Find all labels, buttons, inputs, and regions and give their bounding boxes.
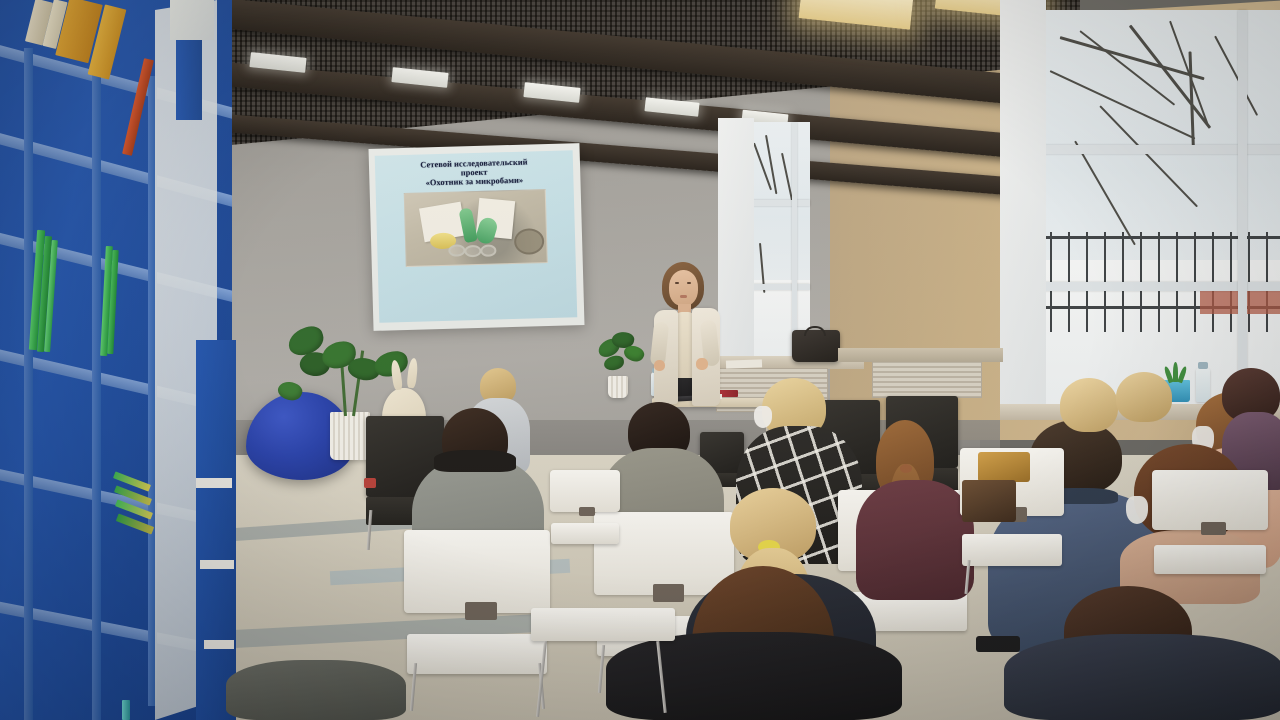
white-chair-seat [962, 534, 1062, 567]
tree-branch [1074, 141, 1136, 246]
window-mullion-h2 [752, 284, 810, 290]
white-chair-leg [536, 641, 547, 717]
window-mullion-h1 [752, 200, 810, 206]
book-teal-bottom [122, 700, 130, 720]
attendee-bottom-left [226, 648, 406, 720]
face-mask [754, 406, 772, 428]
smartphone[interactable] [976, 636, 1020, 652]
slide-photo-green-bottle-1 [458, 207, 478, 243]
white-chair-seat [531, 608, 675, 640]
slide-photo-petri-dish [464, 245, 481, 257]
slide-photo [404, 189, 548, 267]
presenter-eye-left [675, 282, 679, 284]
attendee-blonde-right-2 [1110, 372, 1182, 444]
presenter-mouth [680, 295, 687, 298]
shelf-divider [24, 48, 33, 720]
slide-photo-petri-dish [480, 244, 496, 256]
face-mask [1126, 496, 1148, 524]
presenter-hand-right [696, 358, 708, 370]
monstera-pot [330, 412, 370, 460]
shelf-divider [92, 62, 101, 720]
brown-bag [962, 480, 1016, 522]
presenter-eye-right [687, 282, 691, 284]
white-chair-back [1152, 470, 1268, 530]
radiator-shelf [838, 348, 1003, 362]
framed-picture [170, 0, 214, 40]
projection-screen: Сетевой исследовательский проект «Охотни… [369, 143, 585, 331]
presenter-face [669, 270, 698, 306]
white-chair-empty-front[interactable] [528, 596, 678, 720]
attendee-dark-blue-back [1004, 586, 1280, 720]
white-chair-seat [1154, 545, 1265, 574]
narrow-window [752, 122, 810, 360]
window-reveal-right [1000, 0, 1046, 420]
small-plant-pot [608, 376, 628, 398]
white-chair-leg [656, 641, 667, 713]
window-glass-narrow [752, 122, 810, 360]
white-chair-handle-slot [465, 602, 497, 620]
tree-branch [1099, 105, 1198, 207]
tree-branch [1214, 36, 1258, 116]
white-chair-mid-small[interactable] [550, 470, 620, 562]
shelf-label-tab [196, 478, 232, 488]
tree-branch [765, 135, 777, 194]
white-chair-far-right[interactable] [1152, 470, 1268, 600]
window-mullion-v1 [792, 122, 797, 360]
large-window-right [1040, 10, 1280, 410]
dark-chair-armrest-cap [364, 478, 376, 488]
attendee-hair [1116, 372, 1172, 422]
window-mullion-v1 [1238, 10, 1247, 410]
slide-photo-petri-dish-large [514, 228, 545, 255]
attendee-top [1004, 634, 1280, 720]
white-chair-handle-slot [579, 507, 594, 516]
attendee-collar [434, 450, 516, 472]
bottle-cap [1198, 362, 1208, 369]
presenter-hand-left [654, 360, 665, 371]
attendee-hair-tie [900, 464, 912, 473]
white-chair-back [550, 470, 620, 512]
shelf-label-tab [200, 560, 234, 569]
presentation-room-photo: Сетевой исследовательский проект «Охотни… [0, 0, 1280, 720]
attendee-top [226, 660, 406, 720]
yellow-bag [978, 452, 1030, 482]
slide-photo-petri-dish [448, 244, 465, 256]
white-chair-seat [407, 634, 547, 674]
white-chair-seat [551, 523, 618, 543]
slide-content: Сетевой исследовательский проект «Охотни… [375, 150, 578, 322]
papers-on-sill [726, 359, 762, 368]
white-chair-handle-slot [1201, 522, 1227, 535]
